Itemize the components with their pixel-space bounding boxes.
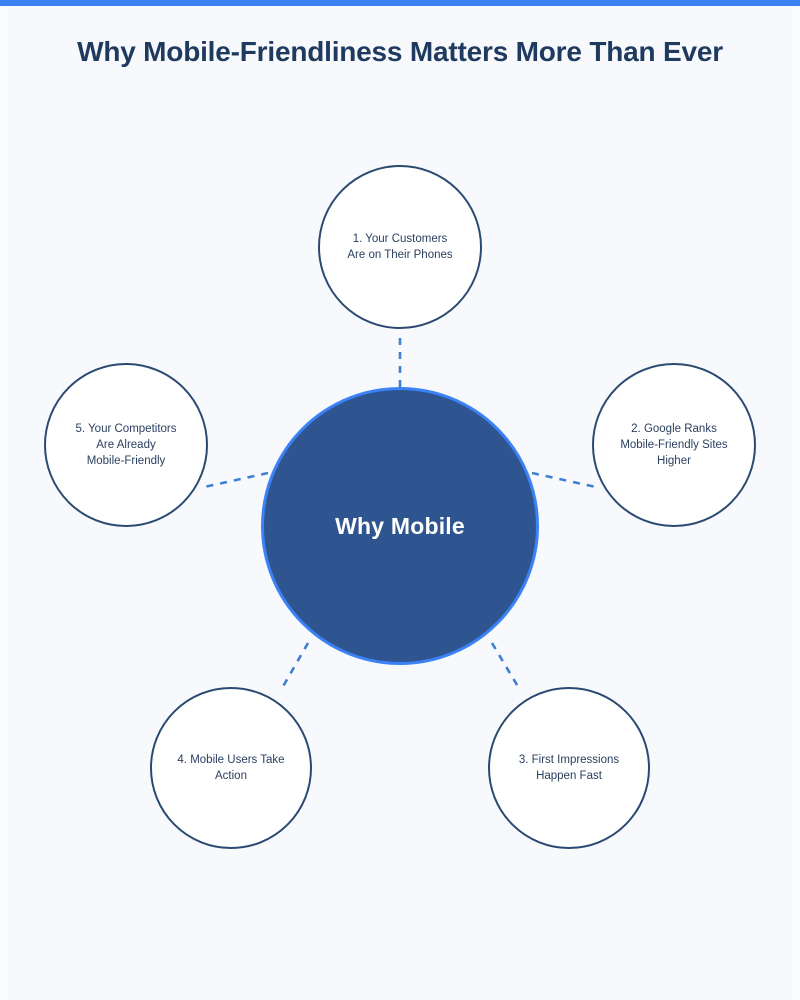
- diagram-node-2[interactable]: 2. Google Ranks Mobile-Friendly Sites Hi…: [592, 363, 756, 527]
- diagram-node-5[interactable]: 5. Your Competitors Are Already Mobile-F…: [44, 363, 208, 527]
- diagram-node-4[interactable]: 4. Mobile Users Take Action: [150, 687, 312, 849]
- diagram-node-5-label: 5. Your Competitors Are Already Mobile-F…: [61, 421, 190, 469]
- connector-center-to-node-4: [281, 643, 308, 690]
- diagram-node-3[interactable]: 3. First Impressions Happen Fast: [488, 687, 650, 849]
- connector-center-to-node-3: [492, 643, 520, 690]
- diagram-center-label: Why Mobile: [335, 513, 465, 540]
- diagram-node-1[interactable]: 1. Your Customers Are on Their Phones: [318, 165, 482, 329]
- diagram-node-2-label: 2. Google Ranks Mobile-Friendly Sites Hi…: [606, 421, 741, 469]
- diagram-node-1-label: 1. Your Customers Are on Their Phones: [333, 231, 466, 263]
- connector-center-to-node-2: [532, 473, 596, 487]
- diagram-node-4-label: 4. Mobile Users Take Action: [163, 752, 298, 784]
- infographic-canvas: Why Mobile-Friendliness Matters More Tha…: [0, 0, 800, 1000]
- diagram-node-3-label: 3. First Impressions Happen Fast: [505, 752, 633, 784]
- connector-center-to-node-5: [204, 473, 268, 487]
- diagram-center-node[interactable]: Why Mobile: [261, 387, 539, 665]
